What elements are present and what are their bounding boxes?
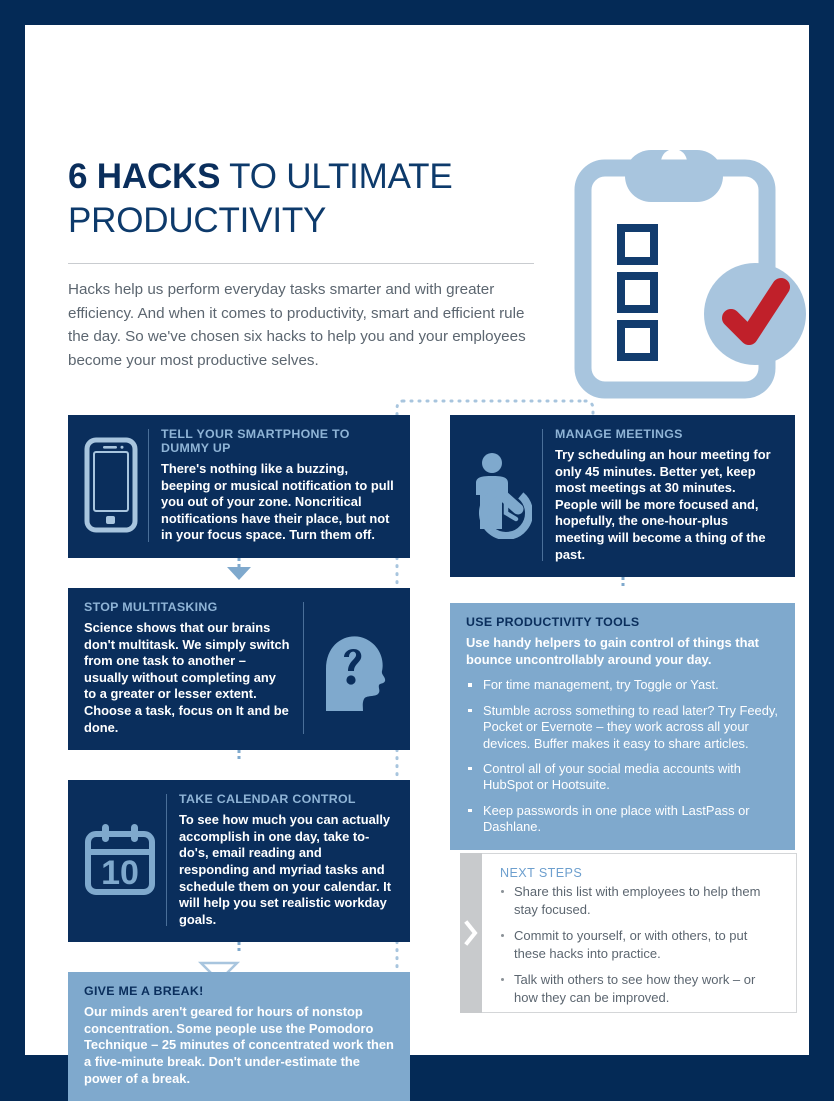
card-text-emphasis: Turn them off.	[289, 527, 375, 542]
list-item: Keep passwords in one place with LastPas…	[466, 803, 779, 836]
smartphone-icon	[84, 427, 138, 544]
card-productivity-tools[interactable]: USE PRODUCTIVITY TOOLS Use handy helpers…	[450, 603, 795, 849]
card-break[interactable]: GIVE ME A BREAK! Our minds aren't geared…	[68, 972, 410, 1101]
list-item: Commit to yourself, or with others, to p…	[500, 927, 782, 962]
card-title: STOP MULTITASKING	[84, 600, 291, 614]
card-text-emphasis: People will be more focused and, hopeful…	[555, 497, 766, 562]
chevron-right-icon	[464, 920, 478, 946]
card-text-body: Try scheduling an hour meeting for only …	[555, 447, 771, 495]
card-text: Our minds aren't geared for hours of non…	[84, 1004, 394, 1087]
card-meetings[interactable]: MANAGE MEETINGS Try scheduling an hour m…	[450, 415, 795, 577]
head-question-mark-icon	[304, 600, 394, 736]
card-text: To see how much you can actually accompl…	[179, 812, 394, 928]
list-item: Talk with others to see how they work – …	[500, 971, 782, 1006]
card-text-body: Science shows that our brains don't mult…	[84, 620, 290, 701]
list-item: Control all of your social media account…	[466, 761, 779, 794]
card-text: Science shows that our brains don't mult…	[84, 620, 291, 736]
next-steps-content: NEXT STEPS Share this list with employee…	[482, 853, 797, 1013]
card-divider	[148, 429, 149, 542]
page-title-bold: 6 HACKS	[68, 157, 220, 196]
arrow-head-down	[227, 567, 251, 580]
list-item: Stumble across something to read later? …	[466, 703, 779, 752]
card-divider	[166, 794, 167, 926]
person-clock-icon	[466, 427, 532, 563]
clipboard-illustration	[573, 130, 823, 405]
arrow-dot-stem	[238, 750, 241, 759]
next-steps-panel: NEXT STEPS Share this list with employee…	[460, 853, 797, 1013]
title-divider	[68, 263, 534, 264]
list-item: Share this list with employees to help t…	[500, 883, 782, 918]
intro-paragraph: Hacks help us perform everyday tasks sma…	[68, 278, 538, 372]
card-text: There's nothing like a buzzing, beeping …	[161, 461, 394, 544]
checkbox-icon	[621, 324, 654, 357]
card-text-emphasis: Choose a task, focus on It and be done.	[84, 703, 289, 735]
right-column: MANAGE MEETINGS Try scheduling an hour m…	[450, 415, 795, 850]
card-title: GIVE ME A BREAK!	[84, 984, 394, 998]
checkbox-icon	[621, 228, 654, 261]
card-multitasking[interactable]: STOP MULTITASKING Science shows that our…	[68, 588, 410, 750]
arrow-dot-stem	[238, 942, 241, 951]
connector-arrow-1	[68, 558, 410, 588]
card-smartphone[interactable]: TELL YOUR SMARTPHONE TO DUMMY UP There's…	[68, 415, 410, 558]
card-calendar[interactable]: 10 TAKE CALENDAR CONTROL To see how much…	[68, 780, 410, 942]
calendar-day-number: 10	[101, 854, 139, 892]
tools-bullet-list: For time management, try Toggle or Yast.…	[466, 677, 779, 835]
arrow-dot-stem	[621, 577, 624, 586]
card-title: TAKE CALENDAR CONTROL	[179, 792, 394, 806]
connector-arrow-2	[68, 750, 410, 780]
card-title: USE PRODUCTIVITY TOOLS	[466, 615, 779, 629]
page-header: 6 HACKS TO ULTIMATE PRODUCTIVITY Hacks h…	[68, 155, 538, 372]
card-title: TELL YOUR SMARTPHONE TO DUMMY UP	[161, 427, 394, 455]
calendar-icon: 10	[84, 792, 156, 928]
next-steps-tab[interactable]	[460, 853, 482, 1013]
card-text: Try scheduling an hour meeting for only …	[555, 447, 779, 563]
left-column: TELL YOUR SMARTPHONE TO DUMMY UP There's…	[68, 415, 410, 1101]
card-title: MANAGE MEETINGS	[555, 427, 779, 441]
card-lead-text: Use handy helpers to gain control of thi…	[466, 635, 779, 668]
connector-arrow-4	[450, 577, 795, 603]
card-text-body: To see how much you can actually accompl…	[179, 812, 390, 893]
infographic-frame: 6 HACKS TO ULTIMATE PRODUCTIVITY Hacks h…	[25, 25, 809, 1055]
list-item: For time management, try Toggle or Yast.	[466, 677, 779, 693]
connector-arrow-3	[68, 942, 410, 972]
next-steps-list: Share this list with employees to help t…	[500, 883, 782, 1006]
card-divider	[542, 429, 543, 561]
checkbox-icon	[621, 276, 654, 309]
arrow-dot-stem	[238, 558, 241, 567]
next-steps-title: NEXT STEPS	[500, 866, 782, 880]
page-title: 6 HACKS TO ULTIMATE PRODUCTIVITY	[68, 155, 538, 243]
